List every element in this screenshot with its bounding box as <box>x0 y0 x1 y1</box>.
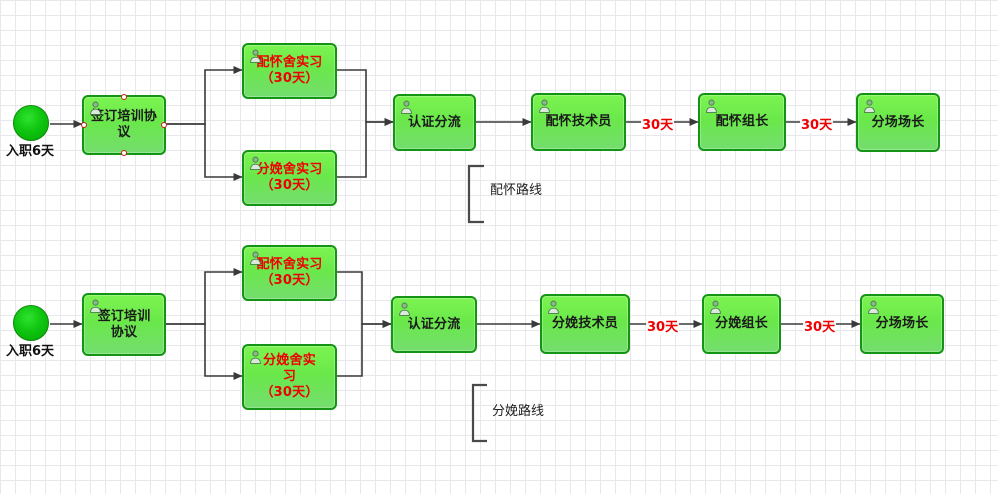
person-icon <box>89 101 102 115</box>
person-icon <box>249 156 262 170</box>
route-note-peihuai: 配怀路线 <box>490 179 542 198</box>
node-label: 配怀组长 <box>713 114 772 130</box>
node-fenmian-intern-2[interactable]: 分娩舍实 习 （30天） <box>242 344 337 410</box>
start-label-peihuai: 入职6天 <box>6 140 54 159</box>
node-certification-split-2[interactable]: 认证分流 <box>391 296 477 353</box>
route-bracket-peihuai <box>469 166 484 222</box>
node-branch-manager-1[interactable]: 分场场长 <box>856 93 940 152</box>
edge-duration-label-3: 30天 <box>646 316 679 335</box>
person-icon <box>538 99 551 113</box>
node-label: 配怀舍实习 （30天） <box>253 257 325 289</box>
node-sign-training-agreement-2[interactable]: 签订培训 协议 <box>82 293 166 356</box>
node-fenmian-technician-2[interactable]: 分娩技术员 <box>540 294 630 354</box>
person-icon <box>249 251 262 265</box>
node-branch-manager-2[interactable]: 分场场长 <box>860 294 944 354</box>
edge-peihuai-intern1-to-renzheng1 <box>337 70 393 122</box>
node-label: 配怀舍实习 （30天） <box>253 55 325 87</box>
node-handle-right[interactable] <box>161 122 167 128</box>
edge-fenmian-intern1-to-renzheng1 <box>337 122 393 177</box>
person-icon <box>89 299 102 313</box>
edge-sign1-to-peihuai-intern1 <box>166 70 242 124</box>
node-label: 分娩组长 <box>712 316 771 332</box>
start-node-peihuai[interactable] <box>13 105 49 141</box>
person-icon <box>249 49 262 63</box>
person-icon <box>709 300 722 314</box>
node-label: 分娩舍实 习 （30天） <box>257 353 321 401</box>
node-peihuai-technician-1[interactable]: 配怀技术员 <box>531 93 626 151</box>
edge-sign2-to-peihuai-intern2 <box>166 272 242 324</box>
route-note-fenmian: 分娩路线 <box>492 400 544 419</box>
start-node-fenmian[interactable] <box>13 305 49 341</box>
node-certification-split-1[interactable]: 认证分流 <box>393 94 476 151</box>
person-icon <box>863 99 876 113</box>
node-label: 签订培训 协议 <box>95 309 154 341</box>
node-label: 认证分流 <box>405 317 464 333</box>
node-handle-top[interactable] <box>121 94 127 100</box>
edge-duration-label-4: 30天 <box>803 316 836 335</box>
node-label: 分场场长 <box>869 115 928 131</box>
person-icon <box>249 350 262 364</box>
person-icon <box>398 302 411 316</box>
edge-fenmian-intern2-to-renzheng2 <box>337 324 391 376</box>
node-label: 分场场长 <box>873 316 932 332</box>
node-label: 分娩技术员 <box>549 316 621 332</box>
edge-layer <box>0 0 998 494</box>
node-peihuai-team-leader-1[interactable]: 配怀组长 <box>698 93 786 151</box>
person-icon <box>547 300 560 314</box>
person-icon <box>400 100 413 114</box>
node-fenmian-intern-1[interactable]: 分娩舍实习 （30天） <box>242 150 337 206</box>
node-label: 配怀技术员 <box>542 114 614 130</box>
diagram-canvas[interactable]: 入职6天 签订培训协议 配怀舍实习 （30天） 分娩舍实习 （30天） 认证分流 <box>0 0 998 494</box>
node-peihuai-intern-2[interactable]: 配怀舍实习 （30天） <box>242 245 337 301</box>
person-icon <box>867 300 880 314</box>
node-handle-left[interactable] <box>81 122 87 128</box>
node-sign-training-agreement-1[interactable]: 签订培训协议 <box>82 95 166 155</box>
node-label: 分娩舍实习 （30天） <box>253 162 325 194</box>
node-peihuai-intern-1[interactable]: 配怀舍实习 （30天） <box>242 43 337 99</box>
edge-duration-label-1: 30天 <box>641 114 674 133</box>
node-handle-bottom[interactable] <box>121 150 127 156</box>
edge-sign1-to-fenmian-intern1 <box>166 124 242 177</box>
edge-duration-label-2: 30天 <box>800 114 833 133</box>
node-fenmian-team-leader-2[interactable]: 分娩组长 <box>702 294 781 354</box>
node-label: 认证分流 <box>405 115 464 131</box>
route-bracket-fenmian <box>473 385 487 441</box>
person-icon <box>705 99 718 113</box>
edge-peihuai-intern2-to-renzheng2 <box>337 272 391 324</box>
start-label-fenmian: 入职6天 <box>6 340 54 359</box>
edge-sign2-to-fenmian-intern2 <box>166 324 242 376</box>
